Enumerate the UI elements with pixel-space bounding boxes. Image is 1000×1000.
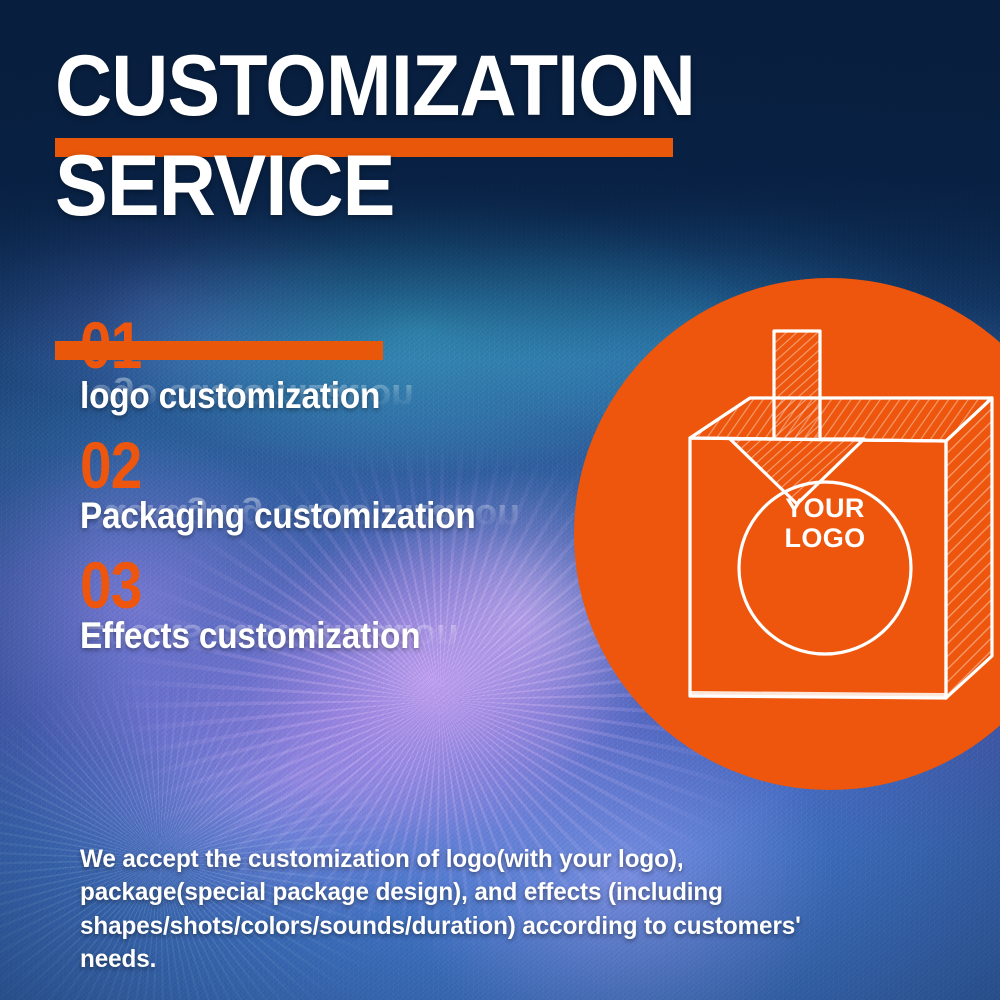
logo-placement-circle [739, 482, 911, 654]
service-label: Packaging customization [80, 497, 584, 536]
headline-text-secondary: SERVICE [55, 145, 695, 228]
service-label-wrap: Effects customization Effects customizat… [80, 617, 640, 656]
headline-block: CUSTOMIZATION SERVICE [55, 45, 751, 227]
service-number: 03 [80, 558, 562, 612]
service-item-01: 01 logo customization logo customization [80, 318, 640, 416]
body-paragraph: We accept the customization of logo(with… [80, 843, 827, 976]
headline-line-2: SERVICE [55, 145, 751, 228]
package-illustration [574, 278, 1000, 790]
service-label: Effects customization [80, 617, 584, 656]
headline-line-1: CUSTOMIZATION [55, 45, 751, 128]
service-label-wrap: logo customization logo customization [80, 377, 640, 416]
service-list: 01 logo customization logo customization… [80, 318, 640, 678]
service-label: logo customization [80, 377, 584, 416]
service-item-03: 03 Effects customization Effects customi… [80, 558, 640, 656]
headline-underline-bar-2 [55, 341, 383, 360]
customization-badge: YOUR LOGO [574, 278, 1000, 790]
promo-banner: CUSTOMIZATION SERVICE 01 logo customizat… [0, 0, 1000, 1000]
service-item-02: 02 Packaging customization Packaging cus… [80, 438, 640, 536]
service-label-wrap: Packaging customization Packaging custom… [80, 497, 640, 536]
service-number: 02 [80, 438, 562, 492]
headline-text-primary: CUSTOMIZATION [55, 45, 695, 128]
